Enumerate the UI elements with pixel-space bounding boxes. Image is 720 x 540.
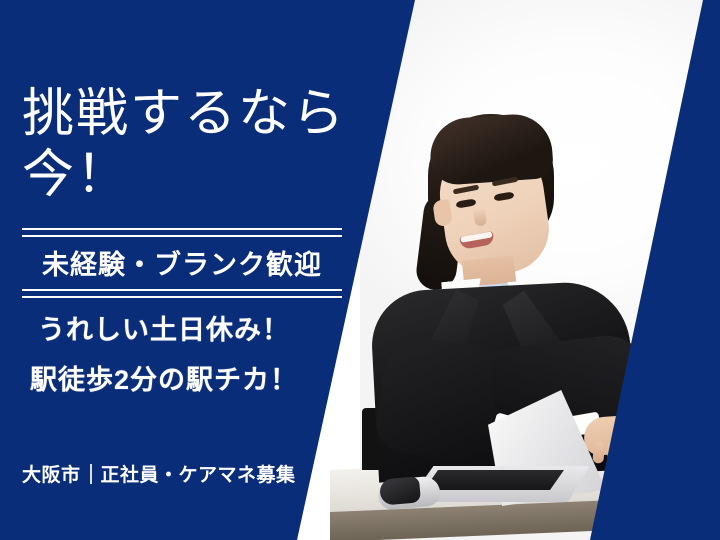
badge-block: 未経験・ブランク歓迎 — [22, 228, 342, 298]
footer-job-title: 正社員・ケアマネ募集 — [101, 460, 296, 487]
badge-rule-bottom — [22, 289, 342, 298]
badge-rule-top — [22, 228, 342, 237]
finger — [592, 441, 605, 464]
footer-meta: 大阪市 正社員・ケアマネ募集 — [22, 460, 296, 487]
footer-location: 大阪市 — [22, 460, 81, 487]
job-advertisement-banner: 挑戦するなら 今！ 未経験・ブランク歓迎 うれしい土日休み！ 駅徒歩2分の駅チカ… — [0, 0, 720, 540]
footer-divider — [90, 464, 92, 484]
bullet-weekend-off: うれしい土日休み！ — [38, 308, 290, 347]
laptop-keyboard — [424, 470, 564, 490]
copy-container: 挑戦するなら 今！ 未経験・ブランク歓迎 うれしい土日休み！ 駅徒歩2分の駅チカ… — [0, 0, 420, 540]
badge-label: 未経験・ブランク歓迎 — [22, 237, 342, 289]
bullet-station-access: 駅徒歩2分の駅チカ！ — [30, 358, 298, 397]
headline: 挑戦するなら 今！ — [22, 84, 372, 206]
hair-front — [428, 112, 554, 186]
